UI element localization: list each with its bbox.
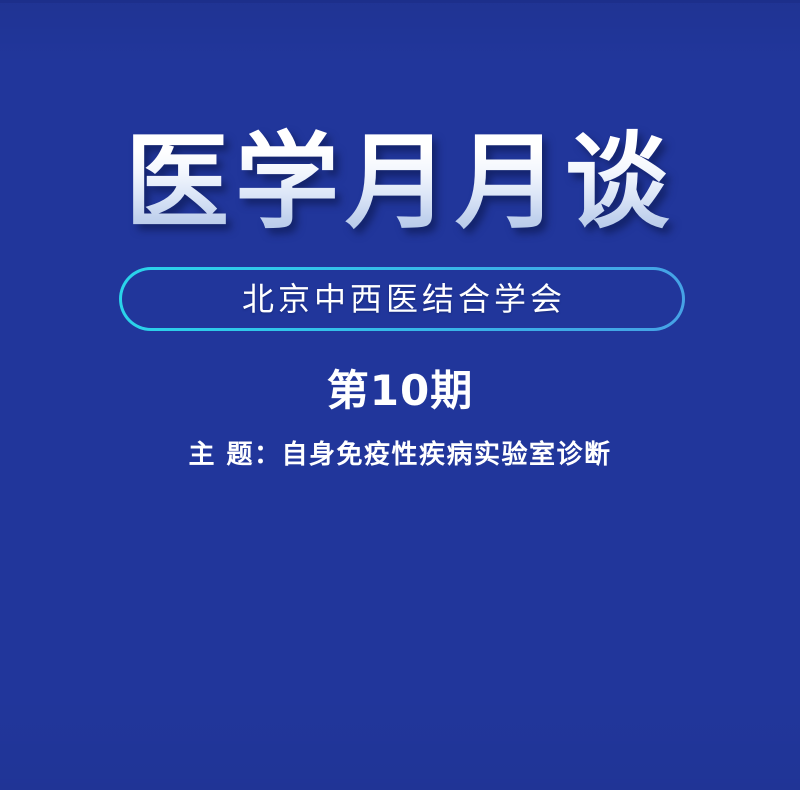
organization-pill: 北京中西医结合学会 [119,267,685,331]
topic-line: 主 题：自身免疫性疾病实验室诊断 [0,440,800,471]
poster-canvas: 医学月月谈 北京中西医结合学会 第10期 主 题：自身免疫性疾病实验室诊断 [0,0,800,790]
top-edge-band [0,0,800,3]
lower-empty-field [0,500,800,790]
issue-number: 第10期 [0,368,800,414]
title-block: 医学月月谈 [0,124,800,240]
organization-name: 北京中西医结合学会 [238,283,566,315]
page-title: 医学月月谈 [125,124,675,240]
